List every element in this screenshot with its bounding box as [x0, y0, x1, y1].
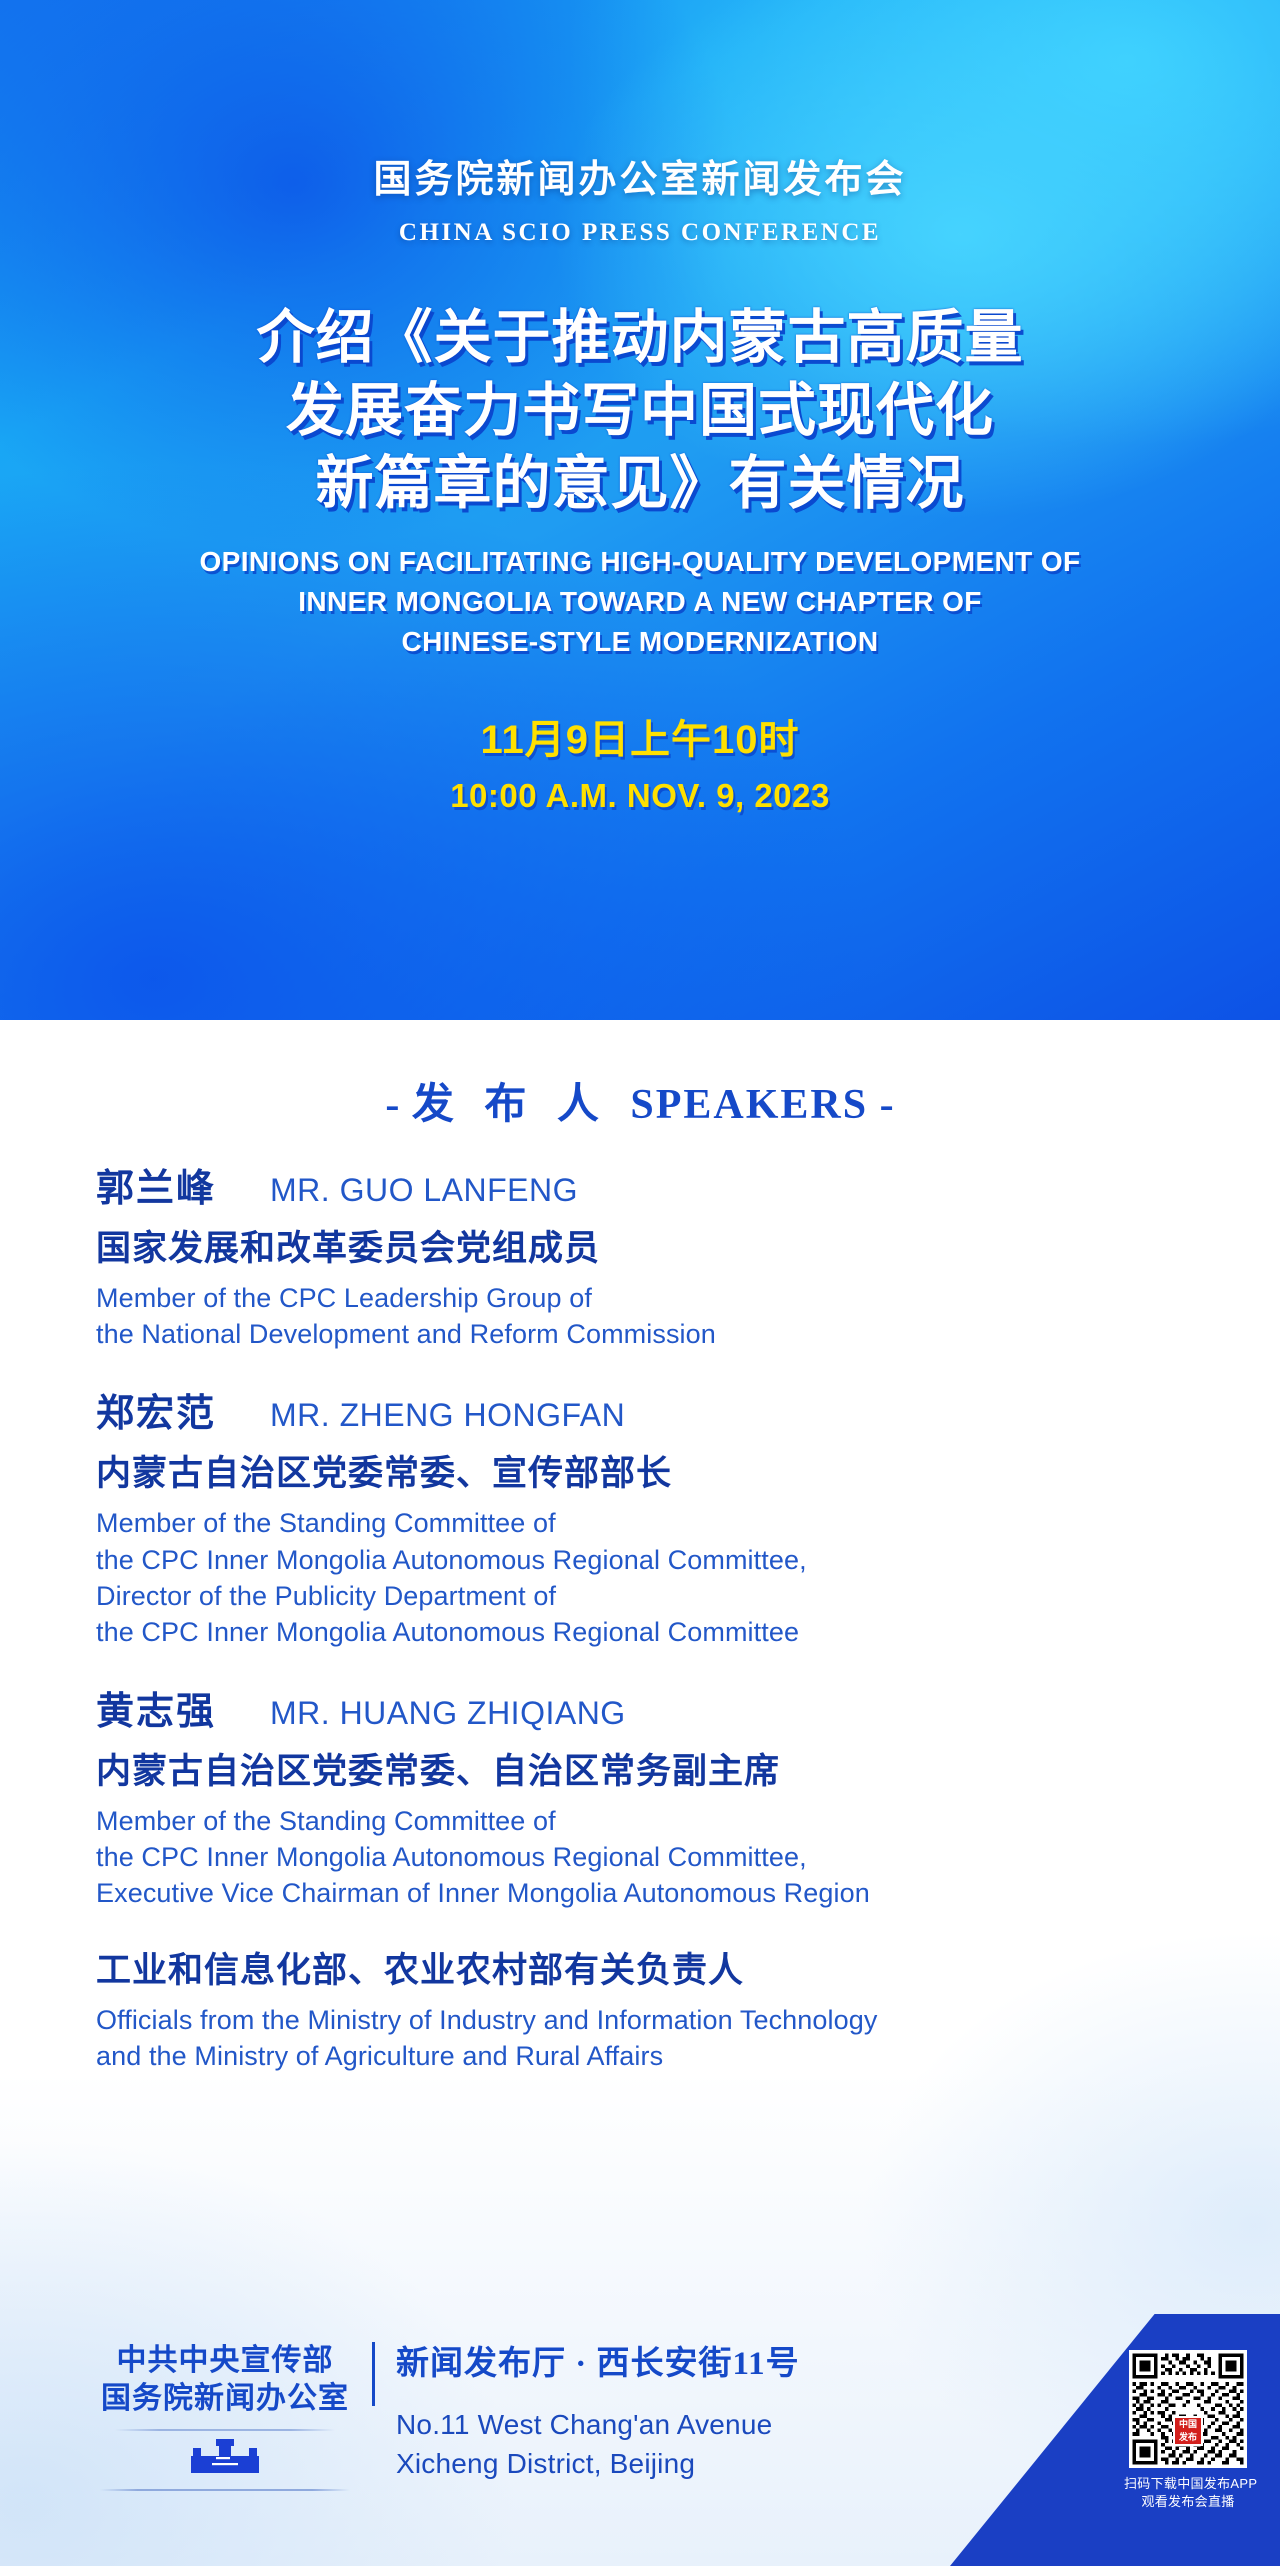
speaker-list: 郭兰峰 MR. GUO LANFENG 国家发展和改革委员会党组成员 Membe… — [0, 1157, 1280, 2074]
headline-cn-line-2: 发展奋力书写中国式现代化 — [0, 374, 1280, 447]
speaker-title-en-line: Director of the Publicity Department of — [96, 1578, 1184, 1614]
venue-en: No.11 West Chang'an Avenue Xicheng Distr… — [396, 2406, 800, 2483]
speakers-heading-cn: 发 布 人 — [412, 1082, 609, 1128]
footer-org-line-1: 中共中央宣传部 — [100, 2342, 350, 2380]
scio-organization-en: CHINA SCIO PRESS CONFERENCE — [0, 219, 1280, 247]
speaker-name-row: 郭兰峰 MR. GUO LANFENG — [96, 1157, 1184, 1212]
speakers-heading-dash-right: - — [880, 1082, 895, 1128]
event-date-en: 10:00 A.M. NOV. 9, 2023 — [0, 777, 1280, 815]
speaker-title-en: Member of the Standing Committee of the … — [96, 1803, 1184, 1912]
qr-code-icon[interactable] — [1129, 2350, 1247, 2468]
speaker-name-en: MR. ZHENG HONGFAN — [270, 1397, 625, 1434]
qr-center-logo: 中国 发布 — [1173, 2416, 1203, 2446]
qr-logo-line-1: 中国 — [1179, 2418, 1197, 2431]
speaker-name-cn: 郑宏范 — [96, 1382, 216, 1437]
speakers-section: - 发 布 人 SPEAKERS - 郭兰峰 MR. GUO LANFENG 国… — [0, 1020, 1280, 2566]
qr-caption-line-2: 观看发布会直播 — [1124, 2493, 1252, 2511]
qr-caption: 扫码下载中国发布APP 观看发布会直播 — [1124, 2475, 1252, 2512]
speakers-heading: - 发 布 人 SPEAKERS - — [0, 1020, 1280, 1131]
footer-organization: 中共中央宣传部 国务院新闻办公室 — [100, 2342, 350, 2491]
headline-cn-line-1: 介绍《关于推动内蒙古高质量 — [0, 301, 1280, 374]
headline-en-line-3: CHINESE-STYLE MODERNIZATION — [0, 622, 1280, 662]
headline-en-line-1: OPINIONS ON FACILITATING HIGH-QUALITY DE… — [0, 542, 1280, 582]
footer: 中共中央宣传部 国务院新闻办公室 新闻发布厅 · 西长安街11号 No.11 W… — [0, 2314, 1280, 2566]
speaker-name-en: MR. HUANG ZHIQIANG — [270, 1695, 626, 1732]
speakers-heading-en: SPEAKERS — [630, 1082, 868, 1128]
speaker-name-row: 郑宏范 MR. ZHENG HONGFAN — [96, 1382, 1184, 1437]
footer-address: 新闻发布厅 · 西长安街11号 No.11 West Chang'an Aven… — [396, 2336, 800, 2483]
headline-cn-line-3: 新篇章的意见》有关情况 — [0, 447, 1280, 520]
speaker-title-en: Member of the Standing Committee of the … — [96, 1505, 1184, 1650]
officials-title-en-line: Officials from the Ministry of Industry … — [96, 2002, 1184, 2038]
speaker-name-en: MR. GUO LANFENG — [270, 1172, 578, 1209]
speaker-entry: 黄志强 MR. HUANG ZHIQIANG 内蒙古自治区党委常委、自治区常务副… — [0, 1680, 1280, 1912]
venue-en-line-1: No.11 West Chang'an Avenue — [396, 2406, 800, 2445]
headline-en: OPINIONS ON FACILITATING HIGH-QUALITY DE… — [0, 542, 1280, 661]
speaker-title-en-line: the CPC Inner Mongolia Autonomous Region… — [96, 1542, 1184, 1578]
footer-divider-rule-top — [115, 2429, 335, 2431]
speaker-title-en-line: the CPC Inner Mongolia Autonomous Region… — [96, 1614, 1184, 1650]
headline-en-line-2: INNER MONGOLIA TOWARD A NEW CHAPTER OF — [0, 582, 1280, 622]
hero-content: 国务院新闻办公室新闻发布会 CHINA SCIO PRESS CONFERENC… — [0, 148, 1280, 815]
qr-logo-line-2: 发布 — [1179, 2431, 1197, 2444]
speaker-title-en-line: Member of the Standing Committee of — [96, 1803, 1184, 1839]
speaker-title-cn: 内蒙古自治区党委常委、宣传部部长 — [96, 1445, 1184, 1496]
footer-divider-rule-bottom — [100, 2489, 350, 2491]
scio-podium-emblem — [180, 2439, 270, 2483]
qr-code-block[interactable]: 中国 发布 扫码下载中国发布APP 观看发布会直播 — [1124, 2350, 1252, 2512]
speaker-name-row: 黄志强 MR. HUANG ZHIQIANG — [96, 1680, 1184, 1735]
venue-en-line-2: Xicheng District, Beijing — [396, 2445, 800, 2484]
officials-title-en-line: and the Ministry of Agriculture and Rura… — [96, 2038, 1184, 2074]
speaker-title-en-line: Member of the Standing Committee of — [96, 1505, 1184, 1541]
hero-banner: 国务院新闻办公室新闻发布会 CHINA SCIO PRESS CONFERENC… — [0, 0, 1280, 1020]
venue-cn: 新闻发布厅 · 西长安街11号 — [396, 2336, 800, 2384]
footer-org-line-2: 国务院新闻办公室 — [100, 2380, 350, 2418]
speaker-title-en-line: Executive Vice Chairman of Inner Mongoli… — [96, 1875, 1184, 1911]
speaker-entry: 郭兰峰 MR. GUO LANFENG 国家发展和改革委员会党组成员 Membe… — [0, 1157, 1280, 1352]
speaker-title-en-line: Member of the CPC Leadership Group of — [96, 1280, 1184, 1316]
speaker-entry-officials: 工业和信息化部、农业农村部有关负责人 Officials from the Mi… — [0, 1942, 1280, 2074]
speaker-name-cn: 黄志强 — [96, 1680, 216, 1735]
speaker-title-en-line: the CPC Inner Mongolia Autonomous Region… — [96, 1839, 1184, 1875]
officials-title-cn: 工业和信息化部、农业农村部有关负责人 — [96, 1942, 1184, 1993]
headline-cn: 介绍《关于推动内蒙古高质量 发展奋力书写中国式现代化 新篇章的意见》有关情况 — [0, 301, 1280, 520]
qr-caption-line-1: 扫码下载中国发布APP — [1124, 2475, 1252, 2493]
scio-organization-cn: 国务院新闻办公室新闻发布会 — [0, 148, 1280, 203]
footer-vertical-divider — [372, 2342, 375, 2406]
speaker-title-cn: 国家发展和改革委员会党组成员 — [96, 1220, 1184, 1271]
speaker-entry: 郑宏范 MR. ZHENG HONGFAN 内蒙古自治区党委常委、宣传部部长 M… — [0, 1382, 1280, 1650]
speaker-title-en: Member of the CPC Leadership Group of th… — [96, 1280, 1184, 1352]
speaker-title-cn: 内蒙古自治区党委常委、自治区常务副主席 — [96, 1743, 1184, 1794]
officials-title-en: Officials from the Ministry of Industry … — [96, 2002, 1184, 2074]
event-date-cn: 11月9日上午10时 — [0, 707, 1280, 765]
speakers-heading-dash-left: - — [385, 1082, 400, 1128]
speaker-name-cn: 郭兰峰 — [96, 1157, 216, 1212]
speaker-title-en-line: the National Development and Reform Comm… — [96, 1316, 1184, 1352]
